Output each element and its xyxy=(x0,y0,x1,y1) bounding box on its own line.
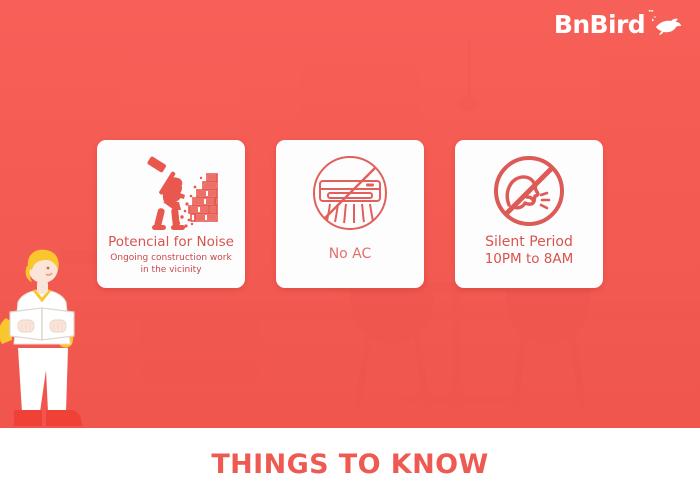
card-title: No AC xyxy=(329,246,372,263)
card-no-ac[interactable]: No AC xyxy=(276,140,424,288)
card-subtitle: 10PM to 8AM xyxy=(485,251,574,267)
page-title: THINGS TO KNOW xyxy=(211,449,488,480)
person-reading-book-illustration xyxy=(0,240,92,435)
bird-icon xyxy=(652,14,682,36)
no-shouting-face-icon xyxy=(485,152,573,234)
card-subtitle: Ongoing construction work in the vicinit… xyxy=(104,252,237,276)
brand-logo[interactable]: BnBird ™ xyxy=(554,12,682,37)
card-text-block: No AC xyxy=(276,234,424,288)
hero-banner: BnBird ™ xyxy=(0,0,700,428)
footer-bar: THINGS TO KNOW xyxy=(0,428,700,500)
screenshot-root: BnBird ™ xyxy=(0,0,700,500)
card-silent-period[interactable]: Silent Period 10PM to 8AM xyxy=(455,140,603,288)
card-text-block: Silent Period 10PM to 8AM xyxy=(455,234,603,288)
brand-name-text: BnBird xyxy=(554,10,645,39)
construction-worker-hammer-icon xyxy=(119,152,223,234)
card-subtitle-line1: Ongoing construction work xyxy=(110,253,231,263)
no-air-conditioner-icon xyxy=(304,152,396,234)
trademark-icon: ™ xyxy=(648,10,654,17)
card-potential-for-noise[interactable]: Potencial for Noise Ongoing construction… xyxy=(97,140,245,288)
card-title: Silent Period xyxy=(485,234,573,251)
card-title: Potencial for Noise xyxy=(108,234,234,250)
card-subtitle-line2: in the vicinity xyxy=(140,265,201,275)
info-cards: Potencial for Noise Ongoing construction… xyxy=(0,140,700,288)
card-text-block: Potencial for Noise Ongoing construction… xyxy=(97,234,245,288)
brand-name: BnBird ™ xyxy=(554,12,645,37)
